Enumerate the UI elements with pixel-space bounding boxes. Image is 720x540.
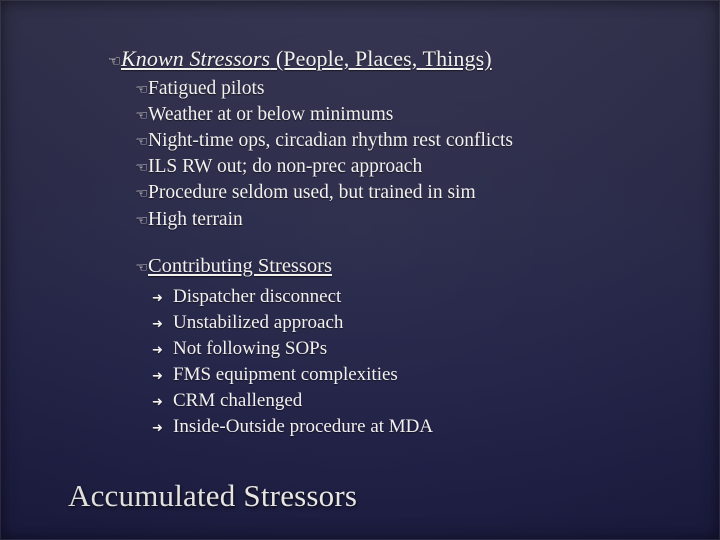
list-item: ➜ Unstabilized approach (152, 312, 343, 334)
list-item-label: Inside-Outside procedure at MDA (173, 416, 433, 438)
list-item-label: Dispatcher disconnect (173, 286, 341, 308)
list-item: ☞ Procedure seldom used, but trained in … (126, 182, 476, 204)
hand-pointer-bullet-icon: ☞ (126, 83, 148, 97)
slide-title: Accumulated Stressors (68, 478, 357, 514)
bullet-item-contributing-stressors: ☞ Contributing Stressors (126, 255, 332, 278)
list-item-label: ILS RW out; do non-prec approach (148, 156, 422, 178)
hand-pointer-bullet-icon: ☞ (126, 135, 148, 149)
list-item: ➜ Inside-Outside procedure at MDA (152, 416, 433, 438)
contributing-stressors-heading: Contributing Stressors (148, 255, 332, 278)
list-item: ☞ Night-time ops, circadian rhythm rest … (126, 130, 513, 152)
list-item-label: High terrain (148, 209, 243, 231)
list-item: ➜ Dispatcher disconnect (152, 286, 341, 308)
list-item: ➜ CRM challenged (152, 390, 302, 412)
arrow-bullet-icon: ➜ (152, 370, 173, 383)
bullet-item-known-stressors: ☞ Known Stressors (People, Places, Thing… (98, 46, 492, 72)
hand-pointer-bullet-icon: ☞ (126, 187, 148, 201)
list-item: ➜ Not following SOPs (152, 338, 327, 360)
arrow-bullet-icon: ➜ (152, 422, 173, 435)
list-item-label: Night-time ops, circadian rhythm rest co… (148, 130, 513, 152)
list-item-label: CRM challenged (173, 390, 302, 412)
arrow-bullet-icon: ➜ (152, 344, 173, 357)
hand-pointer-bullet-icon: ☞ (126, 214, 148, 228)
list-item: ➜ FMS equipment complexities (152, 364, 398, 386)
list-item: ☞ Weather at or below minimums (126, 104, 393, 126)
presentation-slide: ☞ Known Stressors (People, Places, Thing… (0, 0, 720, 540)
known-stressors-heading: Known Stressors (People, Places, Things) (121, 46, 492, 72)
list-item: ☞ ILS RW out; do non-prec approach (126, 156, 422, 178)
list-item: ☞ High terrain (126, 209, 243, 231)
list-item: ☞ Fatigued pilots (126, 78, 264, 100)
list-item-label: Unstabilized approach (173, 312, 343, 334)
list-item-label: FMS equipment complexities (173, 364, 398, 386)
hand-pointer-bullet-icon: ☞ (126, 261, 148, 275)
hand-pointer-bullet-icon: ☞ (126, 109, 148, 123)
hand-pointer-bullet-icon: ☞ (126, 161, 148, 175)
list-item-label: Not following SOPs (173, 338, 327, 360)
arrow-bullet-icon: ➜ (152, 318, 173, 331)
hand-pointer-bullet-icon: ☞ (98, 54, 121, 69)
list-item-label: Procedure seldom used, but trained in si… (148, 182, 476, 204)
known-stressors-heading-emphasis: Known Stressors (121, 46, 270, 71)
list-item-label: Weather at or below minimums (148, 104, 393, 126)
arrow-bullet-icon: ➜ (152, 396, 173, 409)
arrow-bullet-icon: ➜ (152, 292, 173, 305)
list-item-label: Fatigued pilots (148, 78, 264, 100)
known-stressors-heading-normal: (People, Places, Things) (270, 46, 491, 71)
